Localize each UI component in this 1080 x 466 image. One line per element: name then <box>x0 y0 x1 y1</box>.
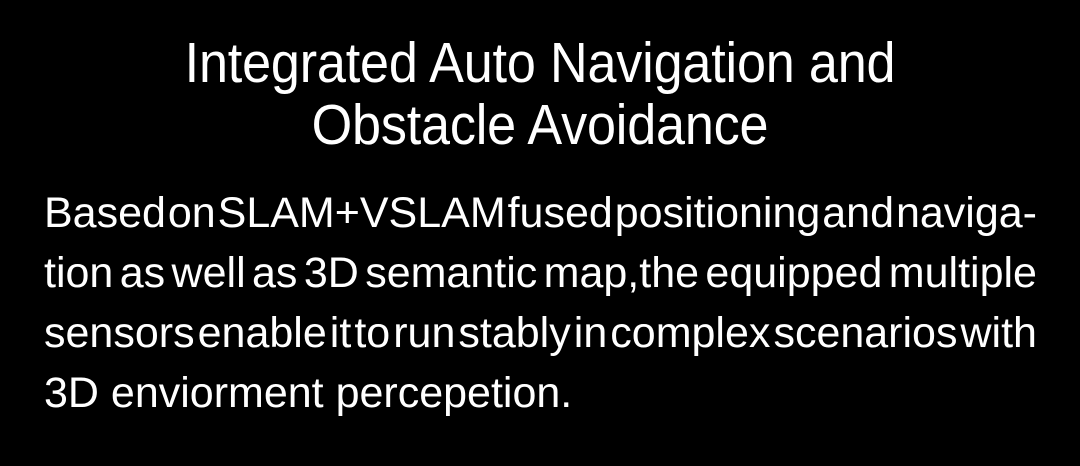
body-word: equipped <box>705 243 882 303</box>
title-line-2: Obstacle Avoidance <box>46 94 1034 156</box>
slide-body: BasedonSLAM+VSLAMfusedpositioningandnavi… <box>44 183 1037 423</box>
body-word: as <box>252 243 297 303</box>
body-word: sensors <box>44 303 195 363</box>
body-word: and <box>822 183 894 243</box>
body-line-1: BasedonSLAM+VSLAMfusedpositioningandnavi… <box>44 183 1037 243</box>
body-line-2: tionaswellas3Dsemanticmap,theequippedmul… <box>44 243 1037 303</box>
slide-root: Integrated Auto Navigation and Obstacle … <box>0 0 1080 466</box>
body-word: enable <box>198 303 327 363</box>
body-word: stably <box>458 303 570 363</box>
body-word: complex <box>610 303 770 363</box>
body-word: multiple <box>889 243 1037 303</box>
body-word: positioning <box>615 183 821 243</box>
body-word: fused <box>508 183 613 243</box>
body-line-3: sensorsenableittorunstablyincomplexscena… <box>44 303 1037 363</box>
body-word: tion <box>44 243 113 303</box>
slide-title: Integrated Auto Navigation and Obstacle … <box>0 32 1080 156</box>
body-line-4: 3D enviorment percepetion. <box>44 363 1037 423</box>
body-word: run <box>393 303 455 363</box>
body-word: with <box>961 303 1037 363</box>
body-word: Based <box>44 183 166 243</box>
body-word: on <box>168 183 216 243</box>
body-word: semantic <box>365 243 537 303</box>
body-word: map,the <box>544 243 699 303</box>
body-word: well <box>172 243 246 303</box>
body-word: naviga- <box>896 183 1037 243</box>
body-word: SLAM+VSLAM <box>218 183 506 243</box>
body-word: in <box>574 303 607 363</box>
body-word: it <box>330 303 352 363</box>
body-word: 3D <box>304 243 359 303</box>
title-line-1: Integrated Auto Navigation and <box>46 32 1034 94</box>
body-word: to <box>354 303 390 363</box>
body-word: scenarios <box>773 303 957 363</box>
body-word: as <box>120 243 165 303</box>
